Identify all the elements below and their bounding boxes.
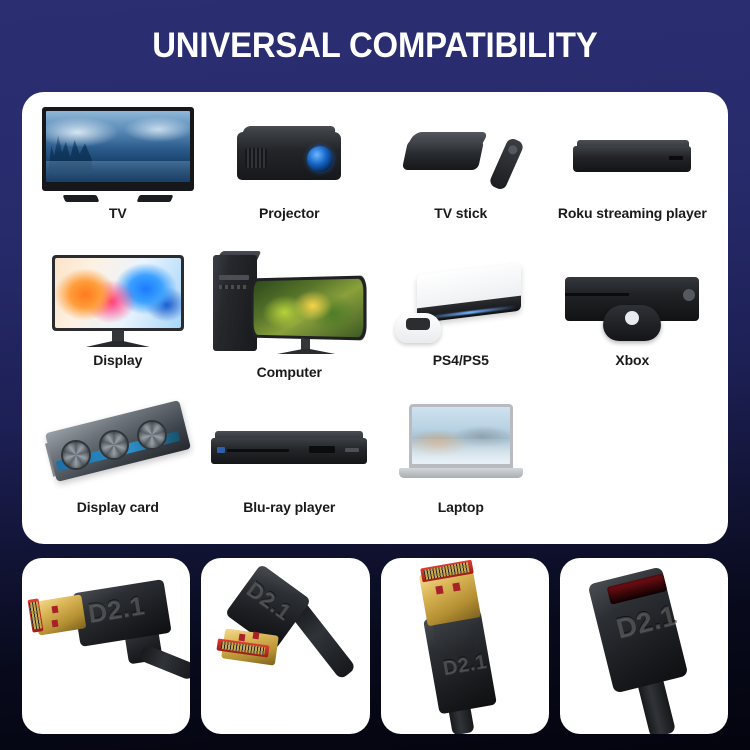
device-item-display: Display (32, 251, 204, 398)
device-item-display-card: Display card (32, 398, 204, 545)
projector-icon (229, 104, 349, 204)
device-item-bluray: Blu-ray player (204, 398, 376, 545)
device-label: Display (93, 353, 142, 369)
promo-page: UNIVERSAL COMPATIBILITY TV (0, 0, 750, 750)
product-photo-panels: D2.1 D2.1 D2.1 D (22, 558, 728, 734)
device-label: Roku streaming player (558, 206, 707, 222)
device-item-playstation: PS4/PS5 (375, 251, 547, 398)
device-label: TV stick (434, 206, 487, 222)
page-title: UNIVERSAL COMPATIBILITY (152, 26, 597, 66)
tv-icon (42, 104, 194, 204)
device-item-tv: TV (32, 104, 204, 251)
device-item-xbox: Xbox (547, 251, 719, 398)
xbox-icon (557, 251, 707, 351)
device-label: PS4/PS5 (433, 353, 489, 369)
device-item-computer: Computer (204, 251, 376, 398)
device-row: Display card Blu-ray player (32, 398, 718, 545)
device-item-roku: Roku streaming player (547, 104, 719, 251)
bluray-player-icon (209, 398, 369, 498)
product-panel-right-angled-male: D2.1 (201, 558, 369, 734)
desktop-computer-icon (209, 251, 369, 363)
device-label: Computer (257, 365, 322, 381)
connector-marking (51, 606, 58, 614)
device-label: Xbox (615, 353, 649, 369)
compatibility-card: TV Projector (22, 92, 728, 544)
device-row: Display Computer (32, 251, 718, 398)
connector-cable (139, 644, 190, 681)
device-label: Laptop (438, 500, 484, 516)
device-item-laptop: Laptop (375, 398, 547, 545)
device-label: TV (109, 206, 127, 222)
device-label: Display card (77, 500, 159, 516)
device-item-projector: Projector (204, 104, 376, 251)
laptop-icon (395, 398, 527, 498)
monitor-icon (52, 251, 184, 351)
device-item-tv-stick: TV stick (375, 104, 547, 251)
device-grid: TV Projector (22, 92, 728, 544)
connector-marking (435, 585, 443, 594)
device-label: Projector (259, 206, 320, 222)
device-label: Blu-ray player (243, 500, 335, 516)
product-panel-straight-male: D2.1 (381, 558, 549, 734)
graphics-card-icon (45, 398, 191, 498)
device-row: TV Projector (32, 104, 718, 251)
device-item-empty (547, 398, 719, 545)
connector-latch (432, 619, 475, 659)
product-panel-left-angled-male: D2.1 (22, 558, 190, 734)
connector-marking (51, 620, 58, 628)
connector-marking (452, 582, 460, 591)
playstation-icon (391, 251, 531, 351)
roku-streaming-player-icon (567, 104, 697, 204)
tv-stick-icon (401, 104, 521, 204)
product-panel-female-socket: D2.1 (560, 558, 728, 734)
title-bar: UNIVERSAL COMPATIBILITY (0, 0, 750, 92)
